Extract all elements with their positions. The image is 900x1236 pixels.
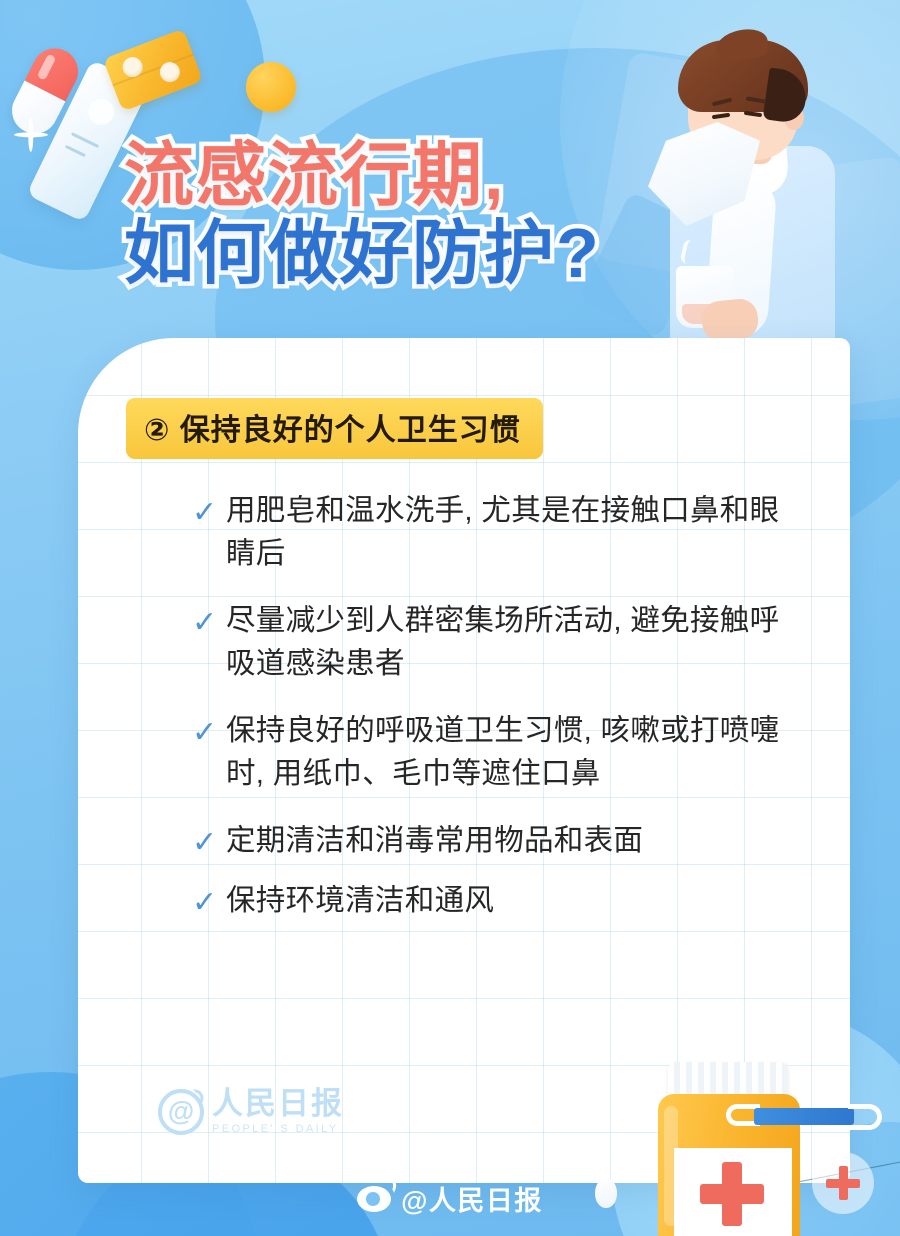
thermometer-mark-1 — [71, 132, 99, 148]
weibo-watermark: @人民日报 — [0, 1179, 900, 1218]
blister-pill-1 — [120, 54, 146, 80]
list-item: ✓ 定期清洁和消毒常用物品和表面 — [126, 819, 798, 864]
card-content: ② 保持良好的个人卫生习惯 ✓ 用肥皂和温水洗手, 尤其是在接触口鼻和眼睛后 ✓… — [78, 338, 850, 924]
weibo-handle: @人民日报 — [401, 1179, 543, 1218]
weibo-icon — [357, 1186, 391, 1212]
stethoscope-icon — [718, 1098, 888, 1138]
at-symbol-glyph: @ — [168, 1098, 194, 1125]
weibo-icon-pupil — [366, 1192, 380, 1206]
list-item: ✓ 保持环境清洁和通风 — [126, 879, 798, 924]
boy-sneezing-tissue-illustration — [624, 28, 874, 348]
list-item-text: 尽量减少到人群密集场所活动, 避免接触呼吸道感染患者 — [126, 599, 798, 685]
content-card: ② 保持良好的个人卫生习惯 ✓ 用肥皂和温水洗手, 尤其是在接触口鼻和眼睛后 ✓… — [78, 338, 850, 1183]
list-item: ✓ 保持良好的呼吸道卫生习惯, 咳嗽或打喷嚏时, 用纸巾、毛巾等遮住口鼻 — [126, 709, 798, 795]
list-item-text: 保持环境清洁和通风 — [126, 879, 798, 922]
list-item: ✓ 尽量减少到人群密集场所活动, 避免接触呼吸道感染患者 — [126, 599, 798, 685]
list-item-text: 定期清洁和消毒常用物品和表面 — [126, 819, 798, 862]
publisher-name-cn: 人民日报 — [212, 1088, 344, 1119]
publisher-name-en: PEOPLE' S DAILY — [212, 1123, 344, 1135]
title-line-1: 流感流行期, — [124, 136, 601, 214]
stethoscope-body — [754, 1108, 854, 1125]
list-item-text: 保持良好的呼吸道卫生习惯, 咳嗽或打喷嚏时, 用纸巾、毛巾等遮住口鼻 — [126, 709, 798, 795]
title-line-2: 如何做好防护? — [124, 214, 601, 292]
advice-list: ✓ 用肥皂和温水洗手, 尤其是在接触口鼻和眼睛后 ✓ 尽量减少到人群密集场所活动… — [126, 489, 798, 924]
blister-pill-2 — [157, 59, 183, 85]
at-symbol-icon: @ — [158, 1089, 204, 1135]
orange-circle-decoration — [246, 62, 296, 112]
thermometer-mark-2 — [65, 145, 86, 157]
bottle-cap — [668, 1062, 788, 1098]
list-item: ✓ 用肥皂和温水洗手, 尤其是在接触口鼻和眼睛后 — [126, 489, 798, 575]
page-title: 流感流行期, 如何做好防护? — [124, 136, 601, 293]
pill-blister-pack-icon — [103, 28, 203, 111]
publisher-name-block: 人民日报 PEOPLE' S DAILY — [212, 1088, 344, 1135]
logo-wave-arc — [191, 1088, 205, 1102]
poster-root: 流感流行期, 如何做好防护? ② 保持良好的个人卫生习惯 ✓ 用肥皂和温水洗手,… — [0, 0, 900, 1236]
section-badge: ② 保持良好的个人卫生习惯 — [126, 398, 543, 459]
list-item-text: 用肥皂和温水洗手, 尤其是在接触口鼻和眼睛后 — [126, 489, 798, 575]
thermometer-highlight — [84, 94, 119, 129]
stethoscope-tip-right — [848, 1104, 882, 1130]
publisher-logo: @ 人民日报 PEOPLE' S DAILY — [158, 1088, 344, 1135]
